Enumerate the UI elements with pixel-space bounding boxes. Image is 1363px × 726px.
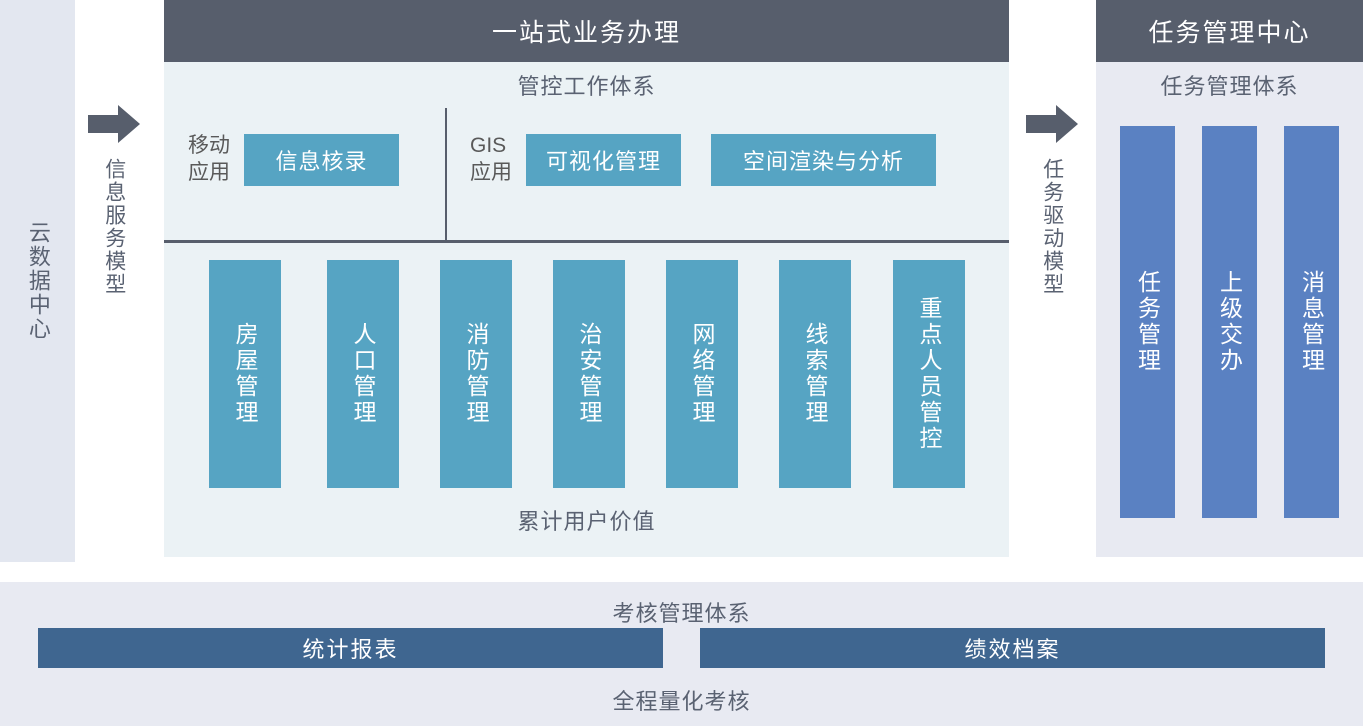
task-panel-header: 任务管理中心 bbox=[1096, 0, 1363, 62]
domain-column-housing[interactable]: 房屋管理 bbox=[209, 260, 281, 488]
one-stop-business-panel: 一站式业务办理 管控工作体系 移动 应用 信息核录 GIS 应用 可视化管理 空… bbox=[164, 0, 1009, 557]
domain-column-label: 消防管理 bbox=[462, 322, 490, 426]
flow-info-service-model: 信息服务模型 bbox=[88, 104, 140, 296]
domain-column-label: 重点人员管控 bbox=[915, 296, 943, 452]
app-group-label-mobile: 移动 应用 bbox=[188, 133, 230, 187]
one-stop-panel-subtitle: 管控工作体系 bbox=[164, 62, 1009, 108]
flow-task-driven-model: 任务驱动模型 bbox=[1026, 104, 1078, 296]
domain-column-label: 治安管理 bbox=[575, 322, 603, 426]
app-group-gis: GIS 应用 可视化管理 空间渲染与分析 bbox=[470, 133, 936, 187]
domain-column-population[interactable]: 人口管理 bbox=[327, 260, 399, 488]
arrow-right-icon bbox=[88, 104, 140, 144]
domain-column-key-persons[interactable]: 重点人员管控 bbox=[893, 260, 965, 488]
task-column-label: 任务管理 bbox=[1133, 270, 1161, 374]
assessment-panel-footer: 全程量化考核 bbox=[0, 684, 1363, 716]
one-stop-panel-footer: 累计用户价值 bbox=[164, 504, 1009, 536]
task-module-columns: 任务管理 上级交办 消息管理 bbox=[1120, 126, 1340, 518]
assessment-management-panel: 考核管理体系 统计报表 绩效档案 全程量化考核 bbox=[0, 582, 1363, 726]
arrow-right-icon bbox=[1026, 104, 1078, 144]
domain-column-label: 房屋管理 bbox=[231, 322, 259, 426]
domain-column-label: 线索管理 bbox=[801, 322, 829, 426]
domain-column-fire[interactable]: 消防管理 bbox=[440, 260, 512, 488]
task-column-label: 消息管理 bbox=[1297, 270, 1325, 374]
application-vertical-divider bbox=[445, 108, 447, 240]
task-column-superior-assignment[interactable]: 上级交办 bbox=[1202, 126, 1257, 518]
assessment-bar-performance-archive[interactable]: 绩效档案 bbox=[700, 628, 1325, 668]
app-box-info-entry[interactable]: 信息核录 bbox=[244, 134, 399, 186]
task-management-center-panel: 任务管理中心 任务管理体系 任务管理 上级交办 消息管理 bbox=[1096, 0, 1363, 557]
task-column-message-management[interactable]: 消息管理 bbox=[1284, 126, 1339, 518]
app-group-mobile: 移动 应用 信息核录 bbox=[188, 133, 399, 187]
task-column-task-management[interactable]: 任务管理 bbox=[1120, 126, 1175, 518]
assessment-bar-statistical-report[interactable]: 统计报表 bbox=[38, 628, 663, 668]
assessment-panel-title: 考核管理体系 bbox=[0, 596, 1363, 628]
domain-column-public-security[interactable]: 治安管理 bbox=[553, 260, 625, 488]
cloud-data-center-sidebar: 云数据中心 bbox=[0, 0, 75, 562]
application-horizontal-divider bbox=[164, 240, 1009, 243]
app-box-spatial-analysis[interactable]: 空间渲染与分析 bbox=[711, 134, 936, 186]
task-column-label: 上级交办 bbox=[1215, 270, 1243, 374]
app-group-label-gis: GIS 应用 bbox=[470, 133, 512, 187]
domain-column-label: 人口管理 bbox=[349, 322, 377, 426]
application-layer-row: 移动 应用 信息核录 GIS 应用 可视化管理 空间渲染与分析 bbox=[164, 108, 1009, 237]
domain-module-columns: 房屋管理 人口管理 消防管理 治安管理 网络管理 线索管理 重点人员管控 bbox=[209, 260, 965, 488]
flow-label-info-service-model: 信息服务模型 bbox=[101, 158, 127, 296]
domain-column-clues[interactable]: 线索管理 bbox=[779, 260, 851, 488]
one-stop-panel-header: 一站式业务办理 bbox=[164, 0, 1009, 62]
cloud-data-center-label: 云数据中心 bbox=[24, 221, 51, 341]
domain-column-network[interactable]: 网络管理 bbox=[666, 260, 738, 488]
flow-label-task-driven-model: 任务驱动模型 bbox=[1039, 158, 1065, 296]
domain-column-label: 网络管理 bbox=[688, 322, 716, 426]
task-panel-subtitle: 任务管理体系 bbox=[1096, 62, 1363, 108]
app-box-visual-management[interactable]: 可视化管理 bbox=[526, 134, 681, 186]
